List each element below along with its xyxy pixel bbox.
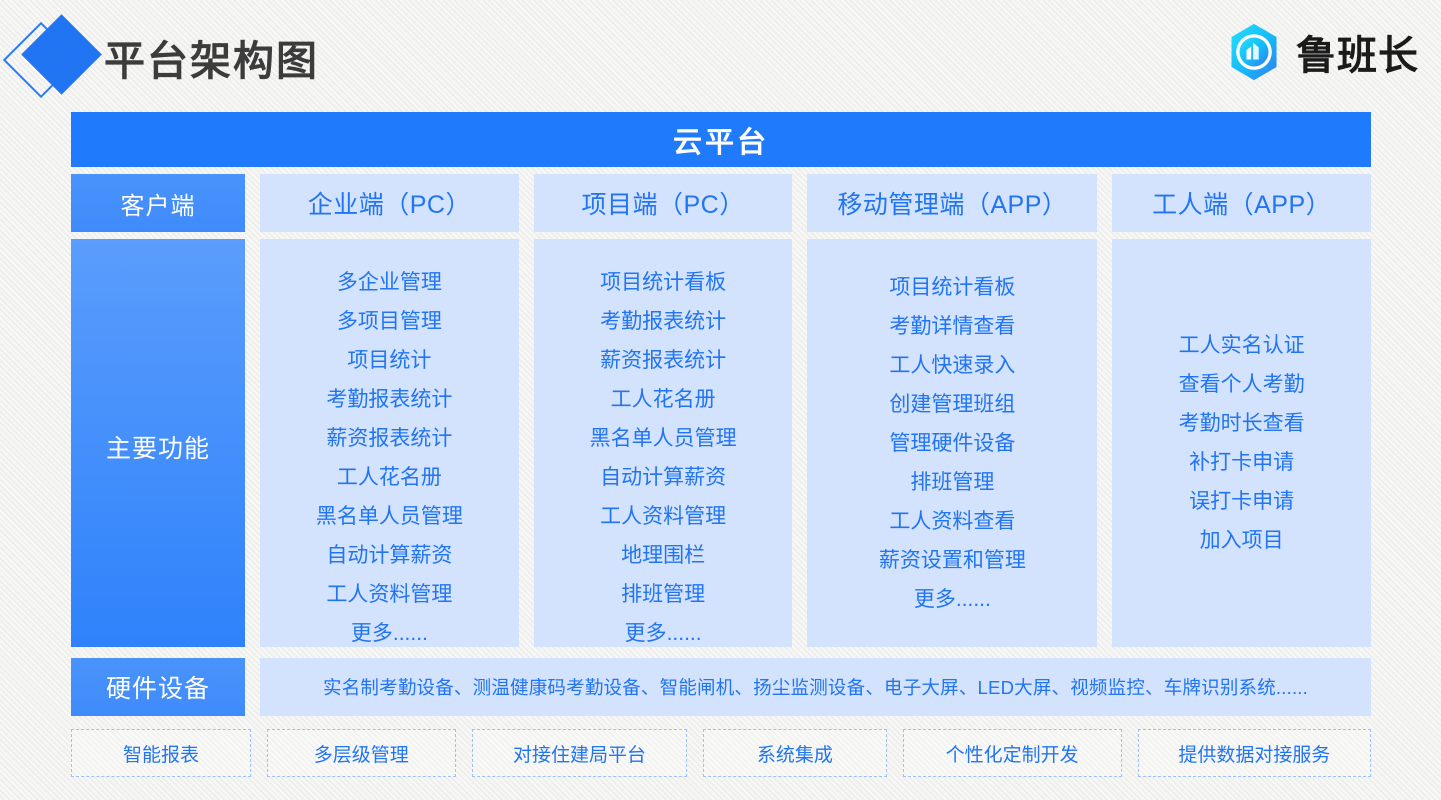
list-item[interactable]: 排班管理	[910, 463, 994, 502]
tag-data-integration-service[interactable]: 提供数据对接服务	[1138, 729, 1371, 777]
list-item[interactable]: 更多......	[625, 614, 702, 653]
list-item[interactable]: 项目统计	[347, 341, 431, 380]
list-item[interactable]: 地理围栏	[621, 536, 705, 575]
capability-tag-row: 智能报表 多层级管理 对接住建局平台 系统集成 个性化定制开发 提供数据对接服务	[71, 729, 1371, 777]
list-item[interactable]: 工人资料管理	[326, 575, 452, 614]
page-header: 平台架构图 鲁班长	[0, 0, 1441, 108]
list-item[interactable]: 自动计算薪资	[326, 536, 452, 575]
list-item[interactable]: 工人实名认证	[1179, 326, 1305, 365]
hardware-device-list: 实名制考勤设备、测温健康码考勤设备、智能闸机、扬尘监测设备、电子大屏、LED大屏…	[260, 658, 1371, 716]
list-item[interactable]: 查看个人考勤	[1179, 365, 1305, 404]
tag-housing-bureau-integration[interactable]: 对接住建局平台	[472, 729, 687, 777]
platform-architecture-page: 平台架构图 鲁班长 云平台 客户	[0, 0, 1441, 800]
list-item[interactable]: 工人花名册	[611, 380, 716, 419]
function-list-worker-app: 工人实名认证 查看个人考勤 考勤时长查看 补打卡申请 误打卡申请 加入项目	[1112, 239, 1371, 647]
tag-smart-reports[interactable]: 智能报表	[71, 729, 251, 777]
list-item[interactable]: 项目统计看板	[889, 268, 1015, 307]
list-item[interactable]: 考勤详情查看	[889, 307, 1015, 346]
function-list-enterprise-pc: 多企业管理 多项目管理 项目统计 考勤报表统计 薪资报表统计 工人花名册 黑名单…	[260, 239, 519, 647]
diamond-logo-icon	[6, 17, 110, 97]
list-item[interactable]: 工人花名册	[337, 458, 442, 497]
list-item[interactable]: 黑名单人员管理	[316, 497, 463, 536]
column-header-enterprise-pc[interactable]: 企业端（PC）	[260, 174, 519, 232]
list-item[interactable]: 工人资料查看	[889, 502, 1015, 541]
column-header-row: 客户端 企业端（PC） 项目端（PC） 移动管理端（APP） 工人端（APP）	[71, 174, 1371, 232]
page-title: 平台架构图	[104, 27, 319, 87]
list-item[interactable]: 薪资报表统计	[600, 341, 726, 380]
list-item[interactable]: 薪资报表统计	[326, 419, 452, 458]
hardware-row: 硬件设备 实名制考勤设备、测温健康码考勤设备、智能闸机、扬尘监测设备、电子大屏、…	[71, 658, 1371, 716]
tag-multilevel-management[interactable]: 多层级管理	[267, 729, 456, 777]
row-label-hardware: 硬件设备	[71, 658, 245, 716]
list-item[interactable]: 薪资设置和管理	[879, 541, 1026, 580]
function-list-mobile-admin-app: 项目统计看板 考勤详情查看 工人快速录入 创建管理班组 管理硬件设备 排班管理 …	[807, 239, 1097, 647]
row-label-main-functions-text: 主要功能	[71, 429, 245, 465]
function-list-project-pc: 项目统计看板 考勤报表统计 薪资报表统计 工人花名册 黑名单人员管理 自动计算薪…	[534, 239, 793, 647]
list-item[interactable]: 工人快速录入	[889, 346, 1015, 385]
list-item[interactable]: 补打卡申请	[1189, 443, 1294, 482]
list-item[interactable]: 创建管理班组	[889, 385, 1015, 424]
list-item[interactable]: 误打卡申请	[1189, 482, 1294, 521]
main-functions-row: 主要功能 多企业管理 多项目管理 项目统计 考勤报表统计 薪资报表统计 工人花名…	[71, 239, 1371, 647]
list-item[interactable]: 考勤时长查看	[1179, 404, 1305, 443]
luban-hexagon-icon	[1224, 22, 1284, 82]
list-item[interactable]: 项目统计看板	[600, 263, 726, 302]
list-item[interactable]: 自动计算薪资	[600, 458, 726, 497]
list-item[interactable]: 多项目管理	[337, 302, 442, 341]
tag-custom-development[interactable]: 个性化定制开发	[903, 729, 1122, 777]
list-item[interactable]: 考勤报表统计	[600, 302, 726, 341]
list-item[interactable]: 考勤报表统计	[326, 380, 452, 419]
cloud-platform-banner: 云平台	[71, 112, 1371, 167]
list-item[interactable]: 加入项目	[1200, 521, 1284, 560]
list-item[interactable]: 管理硬件设备	[889, 424, 1015, 463]
column-header-mobile-admin-app[interactable]: 移动管理端（APP）	[807, 174, 1097, 232]
list-item[interactable]: 更多......	[914, 580, 991, 619]
list-item[interactable]: 多企业管理	[337, 263, 442, 302]
list-item[interactable]: 黑名单人员管理	[590, 419, 737, 458]
column-header-worker-app[interactable]: 工人端（APP）	[1112, 174, 1371, 232]
brand-lockup: 鲁班长	[1224, 22, 1419, 82]
brand-name: 鲁班长	[1296, 23, 1419, 81]
row-label-main-functions: 主要功能	[71, 239, 245, 647]
tag-system-integration[interactable]: 系统集成	[703, 729, 886, 777]
list-item[interactable]: 工人资料管理	[600, 497, 726, 536]
list-item[interactable]: 排班管理	[621, 575, 705, 614]
column-header-project-pc[interactable]: 项目端（PC）	[534, 174, 793, 232]
row-label-client: 客户端	[71, 174, 245, 232]
list-item[interactable]: 更多......	[351, 614, 428, 653]
